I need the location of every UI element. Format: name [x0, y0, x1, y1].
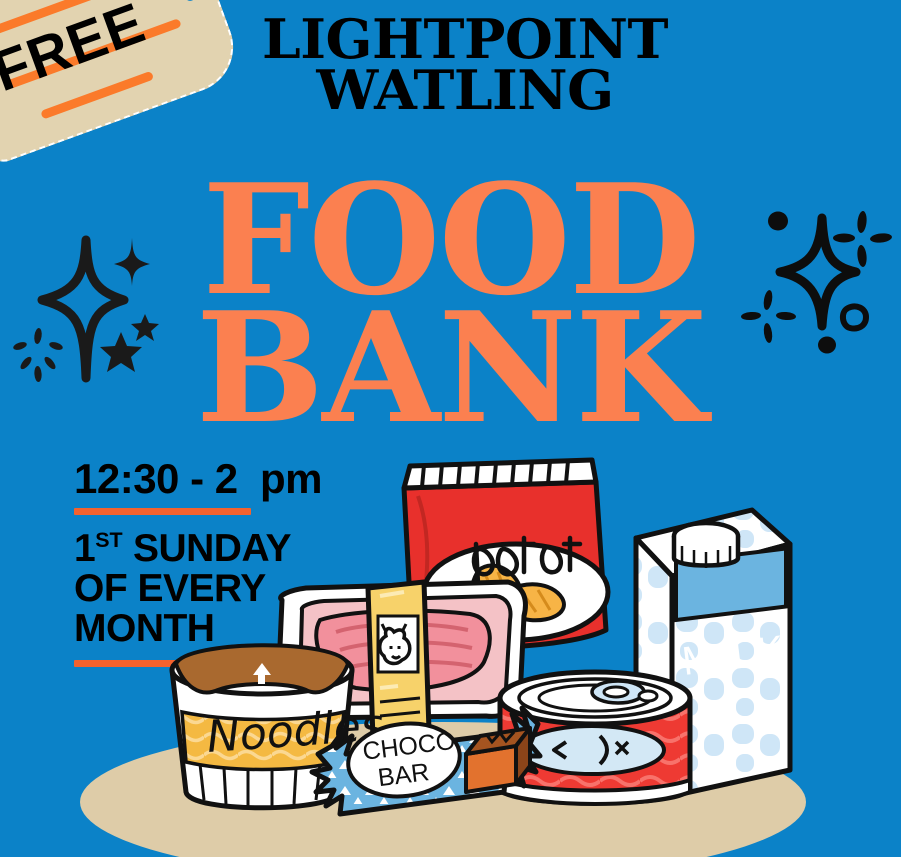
brand-name: LIGHTPOINT WATLING [246, 14, 685, 117]
sparkle-cluster-right-icon [726, 200, 901, 380]
free-price-tag: FREE [0, 0, 246, 166]
poster: FREE LIGHTPOINT WATLING FOOD BANK [0, 0, 901, 857]
brand-line-2: WATLING [246, 65, 685, 116]
sparkle-cluster-left-icon [8, 228, 188, 392]
food-items-illustration: MILK [0, 440, 901, 857]
